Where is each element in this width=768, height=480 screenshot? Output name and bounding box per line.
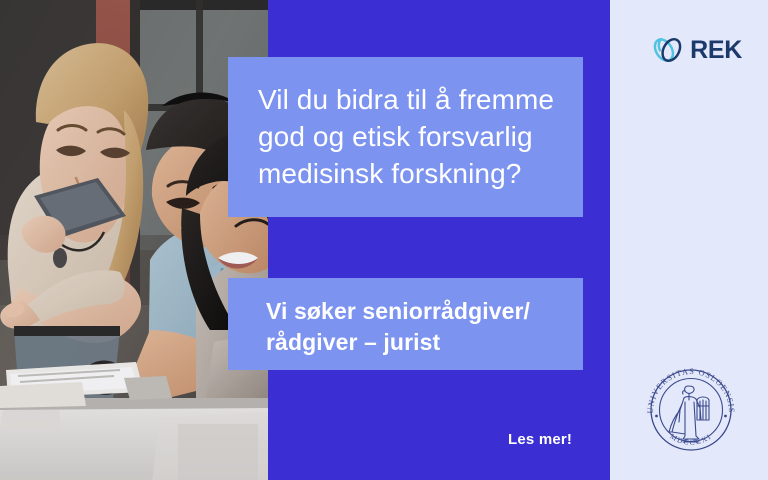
- job-title-line-2: rådgiver – jurist: [266, 327, 561, 358]
- headline-box: Vil du bidra til å fremme god og etisk f…: [228, 57, 583, 217]
- recruitment-banner: Vil du bidra til å fremme god og etisk f…: [0, 0, 768, 480]
- job-title-box: Vi søker seniorrådgiver/ rådgiver – juri…: [228, 278, 583, 370]
- job-title-line-1: Vi søker seniorrådgiver/: [266, 296, 561, 327]
- uio-seal-icon: UNIVERSITAS OSLOENSIS MDCCCXI: [641, 360, 741, 460]
- headline-line-1: Vil du bidra til å fremme: [258, 81, 555, 118]
- headline-line-3: medisinsk forskning?: [258, 155, 555, 192]
- rek-interlocking-rings-icon: [650, 29, 686, 71]
- read-more-link[interactable]: Les mer!: [508, 431, 572, 448]
- rek-logo[interactable]: REK: [650, 27, 742, 73]
- rek-wordmark: REK: [690, 38, 742, 63]
- headline-line-2: god og etisk forsvarlig: [258, 118, 555, 155]
- uio-seal[interactable]: UNIVERSITAS OSLOENSIS MDCCCXI: [641, 360, 741, 460]
